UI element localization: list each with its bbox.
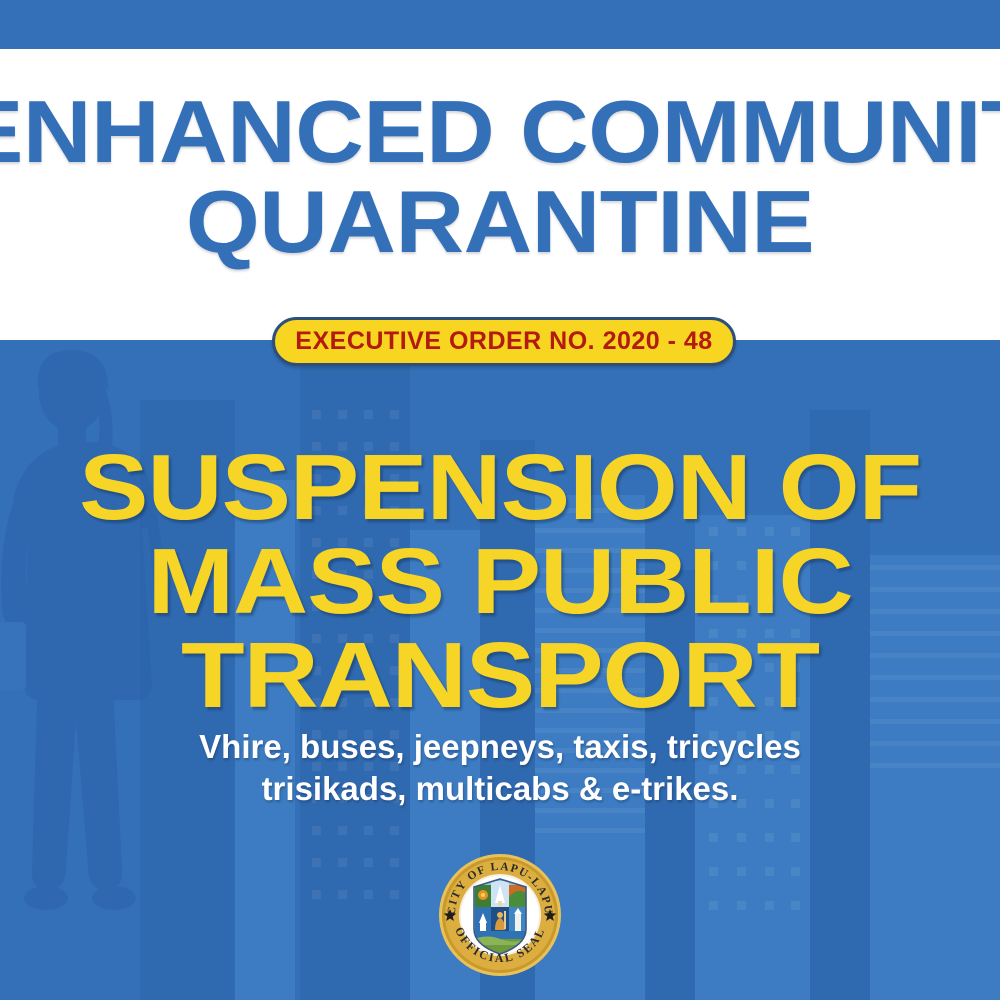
page-title-line-2: QUARANTINE (0, 182, 1000, 263)
top-color-band (0, 0, 1000, 49)
announcement-line-3: TRANSPORT (0, 622, 1000, 729)
announcement-subtitle-line-1: Vhire, buses, jeepneys, taxis, tricycles (0, 726, 1000, 768)
page-title-line-1: ENHANCED COMMUNITY (0, 92, 1000, 173)
executive-order-badge-label: EXECUTIVE ORDER NO. 2020 - 48 (295, 327, 712, 356)
executive-order-badge[interactable]: EXECUTIVE ORDER NO. 2020 - 48 (272, 317, 736, 366)
city-seal: CITY OF LAPU-LAPU OFFICIAL SEAL (438, 853, 562, 977)
announcement-line-2: MASS PUBLIC (0, 528, 1000, 635)
announcement-subtitle-line-2: trisikads, multicabs & e-trikes. (0, 768, 1000, 810)
announcement-line-1: SUSPENSION OF (0, 434, 1000, 541)
city-seal-icon: CITY OF LAPU-LAPU OFFICIAL SEAL (438, 853, 562, 977)
poster-canvas: ENHANCED COMMUNITY QUARANTINE (0, 0, 1000, 1000)
